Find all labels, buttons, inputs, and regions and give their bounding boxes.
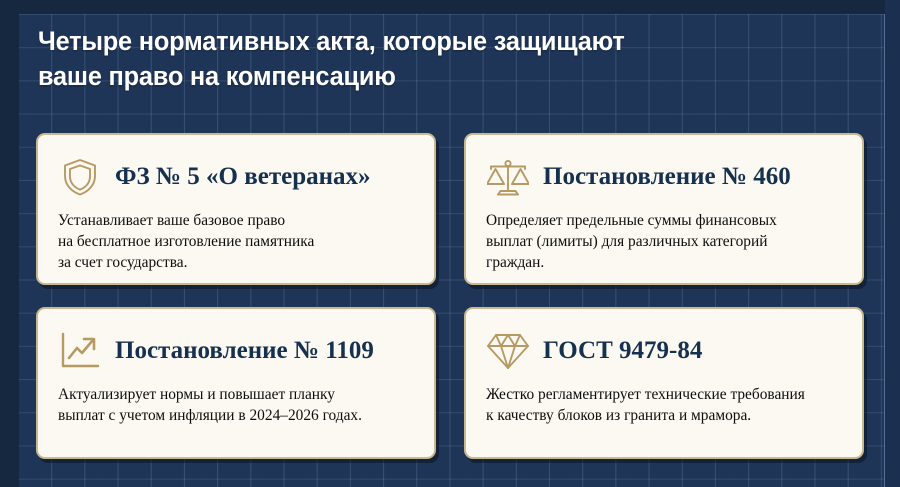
page-title: Четыре нормативных акта, которые защищаю… — [38, 24, 802, 94]
law-card-postanovlenie-1109[interactable]: Постановление № 1109 Актуализирует нормы… — [36, 307, 436, 459]
card-title: Постановление № 460 — [543, 163, 791, 191]
card-description: Устанавливает ваше базовое право на бесп… — [58, 211, 414, 273]
slide-canvas: Четыре нормативных акта, которые защищаю… — [0, 0, 900, 487]
card-description: Определяет предельные суммы финансовых в… — [486, 211, 842, 273]
right-accent-line — [884, 14, 885, 487]
card-title: ГОСТ 9479-84 — [543, 337, 702, 365]
scales-icon — [486, 154, 530, 200]
card-header: ГОСТ 9479-84 — [486, 326, 842, 376]
law-card-gost-9479-84[interactable]: ГОСТ 9479-84 Жестко регламентирует техни… — [464, 307, 864, 459]
right-edge-band — [885, 0, 900, 487]
top-edge-band — [0, 0, 900, 14]
card-header: ФЗ № 5 «О ветеранах» — [58, 152, 414, 202]
card-description: Жестко регламентирует технические требов… — [486, 385, 842, 427]
card-header: Постановление № 1109 — [58, 326, 414, 376]
law-card-postanovlenie-460[interactable]: Постановление № 460 Определяет предельны… — [464, 133, 864, 285]
diamond-icon — [486, 328, 530, 374]
card-title: Постановление № 1109 — [115, 337, 374, 365]
card-title: ФЗ № 5 «О ветеранах» — [115, 163, 371, 191]
card-description: Актуализирует нормы и повышает планку вы… — [58, 385, 414, 427]
law-card-fz-5[interactable]: ФЗ № 5 «О ветеранах» Устанавливает ваше … — [36, 133, 436, 285]
shield-icon — [58, 154, 102, 200]
card-header: Постановление № 460 — [486, 152, 842, 202]
law-card-grid: ФЗ № 5 «О ветеранах» Устанавливает ваше … — [36, 133, 864, 459]
trending-up-chart-icon — [58, 328, 102, 374]
left-edge-band — [0, 0, 19, 487]
